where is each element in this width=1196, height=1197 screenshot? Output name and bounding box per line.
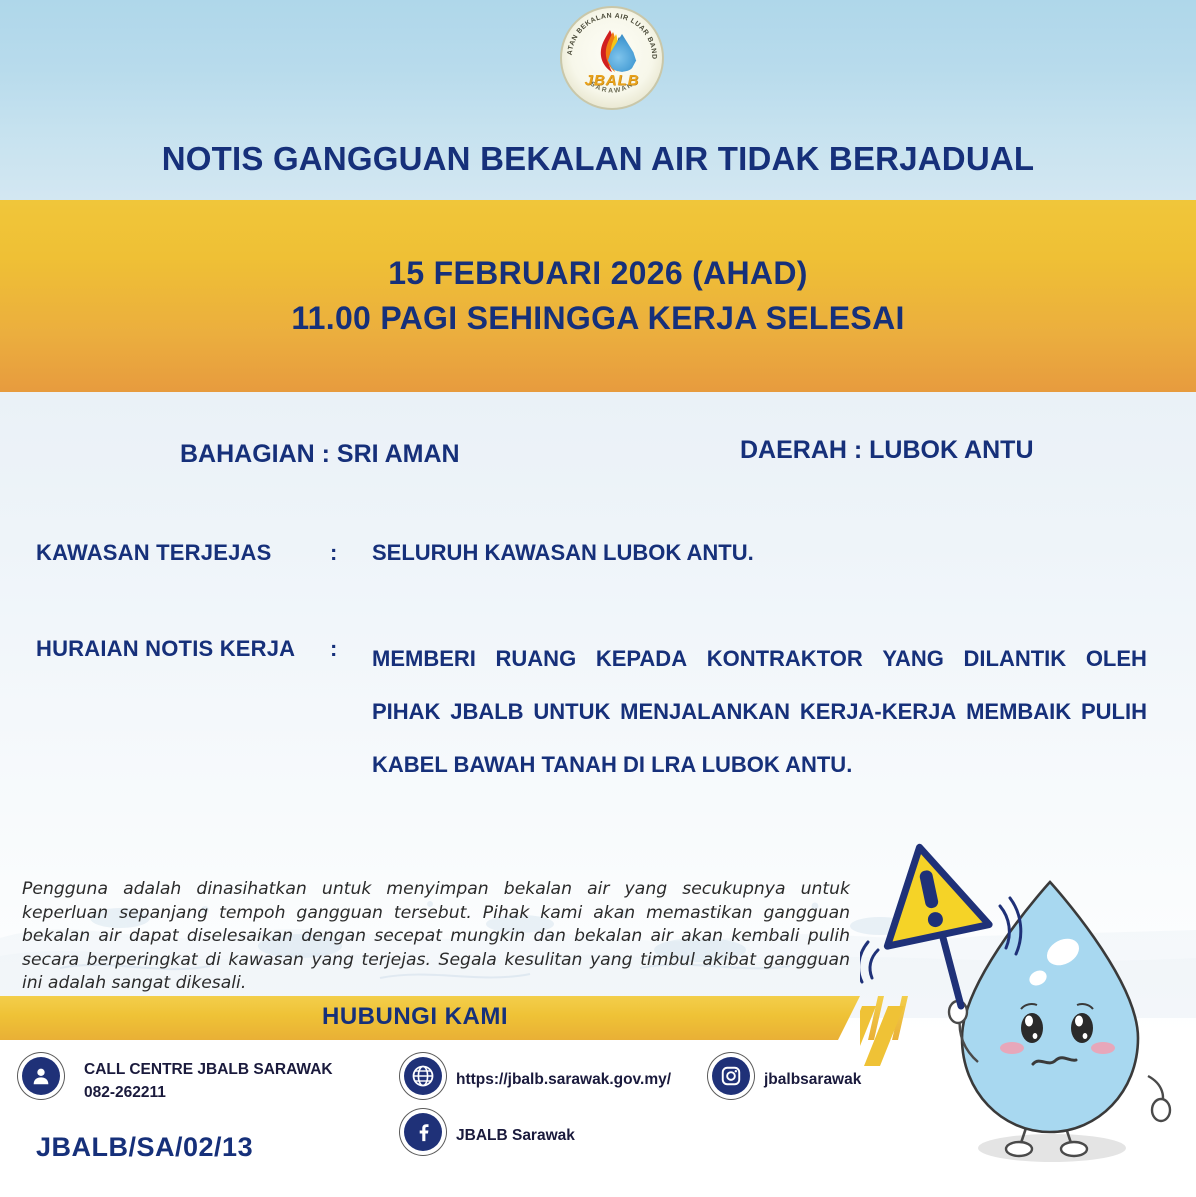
kawasan-colon: : [330,540,337,566]
desc-word: MEMBERI [372,632,476,685]
water-droplet-mascot [860,810,1196,1197]
person-icon[interactable] [22,1057,60,1095]
work-description-text: MEMBERIRUANGKEPADAKONTRAKTORYANGDILANTIK… [372,632,1147,791]
person-glyph-icon [30,1065,52,1087]
logo-wordmark: JBALB [562,72,662,89]
kawasan-terjejas-value: SELURUH KAWASAN LUBOK ANTU. [372,540,754,566]
bahagian-label: BAHAGIAN : SRI AMAN [180,440,460,469]
notice-poster: JABATAN BEKALAN AIR LUAR BANDAR SARAWAK … [0,0,1196,1197]
mascot-illustration-icon [860,810,1196,1197]
reference-code: JBALB/SA/02/13 [36,1132,253,1163]
desc-word: PULIH [1081,685,1147,738]
logo-seal-circle: JABATAN BEKALAN AIR LUAR BANDAR SARAWAK … [560,6,664,110]
facebook-icon[interactable] [404,1113,442,1151]
call-centre-number[interactable]: 082-262211 [84,1083,166,1103]
website-url[interactable]: https://jbalb.sarawak.gov.my/ [456,1070,671,1090]
facebook-handle[interactable]: JBALB Sarawak [456,1126,575,1146]
desc-word: JBALB [450,685,523,738]
desc-line-1: MEMBERIRUANGKEPADAKONTRAKTORYANGDILANTIK… [372,632,1147,685]
instagram-glyph-icon [720,1065,742,1087]
desc-word: KEPADA [596,632,687,685]
globe-icon[interactable] [404,1057,442,1095]
desc-word: DILANTIK [964,632,1067,685]
instagram-icon[interactable] [712,1057,750,1095]
page-title: NOTIS GANGGUAN BEKALAN AIR TIDAK BERJADU… [0,140,1196,178]
desc-word: YANG [882,632,944,685]
desc-line-2: PIHAKJBALBUNTUKMENJALANKANKERJA-KERJAMEM… [372,685,1147,738]
kawasan-terjejas-label: KAWASAN TERJEJAS [36,540,271,566]
globe-glyph-icon [411,1064,435,1088]
region-row: BAHAGIAN : SRI AMAN DAERAH : LUBOK ANTU [0,440,1196,480]
desc-word: MEMBAIK [966,685,1071,738]
huraian-notis-kerja-label: HURAIAN NOTIS KERJA [36,636,295,662]
desc-word: KONTRAKTOR [707,632,863,685]
notice-date: 15 FEBRUARI 2026 (AHAD) [388,251,807,296]
jbalb-logo: JABATAN BEKALAN AIR LUAR BANDAR SARAWAK … [548,2,676,114]
facebook-glyph-icon [412,1121,434,1143]
desc-word: RUANG [496,632,577,685]
notice-time: 11.00 PAGI SEHINGGA KERJA SELESAI [291,296,904,341]
daerah-label: DAERAH : LUBOK ANTU [740,436,1034,465]
huraian-colon: : [330,636,337,662]
instagram-handle[interactable]: jbalbsarawak [764,1070,861,1090]
desc-word: UNTUK [533,685,610,738]
desc-word: PIHAK [372,685,440,738]
desc-line-3: KABEL BAWAH TANAH DI LRA LUBOK ANTU. [372,738,1147,791]
date-time-banner: 15 FEBRUARI 2026 (AHAD) 11.00 PAGI SEHIN… [0,200,1196,392]
desc-word: OLEH [1086,632,1147,685]
call-centre-name: CALL CENTRE JBALB SARAWAK [84,1060,333,1080]
advisory-paragraph: Pengguna adalah dinasihatkan untuk menyi… [22,878,850,996]
desc-word: MENJALANKAN [620,685,790,738]
contact-banner-title: HUBUNGI KAMI [0,1003,830,1031]
desc-word: KERJA-KERJA [800,685,956,738]
